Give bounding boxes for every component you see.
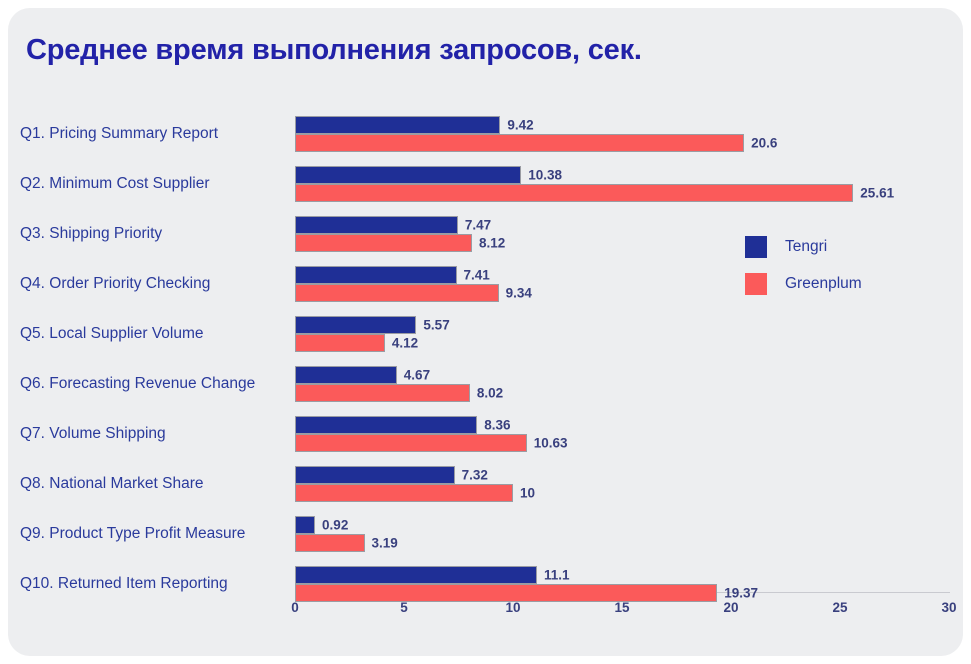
x-axis-tick-label: 10	[505, 600, 520, 615]
legend-swatch-tengri	[745, 236, 767, 258]
bar-value-label: 10.38	[528, 168, 562, 183]
bar-value-label: 7.41	[464, 268, 490, 283]
category-label: Q9. Product Type Profit Measure	[20, 525, 295, 543]
bar-value-label: 10.63	[534, 436, 568, 451]
bar-greenplum[interactable]	[295, 334, 385, 352]
category-label: Q10. Returned Item Reporting	[20, 575, 295, 593]
bar-value-label: 25.61	[860, 186, 894, 201]
x-axis-tick-label: 5	[400, 600, 408, 615]
bar-value-label: 3.19	[372, 536, 398, 551]
bar-tengri[interactable]	[295, 466, 455, 484]
x-axis-tick-label: 30	[941, 600, 956, 615]
legend-item-tengri[interactable]: Tengri	[745, 236, 862, 258]
bar-value-label: 5.57	[423, 318, 449, 333]
bar-value-label: 7.47	[465, 218, 491, 233]
x-axis-tick-label: 25	[832, 600, 847, 615]
bar-tengri[interactable]	[295, 566, 537, 584]
legend-swatch-greenplum	[745, 273, 767, 295]
category-label: Q1. Pricing Summary Report	[20, 125, 295, 143]
x-axis-tick-label: 20	[723, 600, 738, 615]
bar-value-label: 9.42	[507, 118, 533, 133]
x-axis-tick-label: 0	[291, 600, 299, 615]
bar-tengri[interactable]	[295, 266, 457, 284]
category-label: Q3. Shipping Priority	[20, 225, 295, 243]
category-label: Q7. Volume Shipping	[20, 425, 295, 443]
bar-value-label: 0.92	[322, 518, 348, 533]
bar-value-label: 20.6	[751, 136, 777, 151]
legend-item-greenplum[interactable]: Greenplum	[745, 273, 862, 295]
bar-value-label: 4.67	[404, 368, 430, 383]
bar-value-label: 8.36	[484, 418, 510, 433]
bar-value-label: 11.1	[544, 568, 570, 583]
category-label: Q2. Minimum Cost Supplier	[20, 175, 295, 193]
bar-greenplum[interactable]	[295, 384, 470, 402]
bar-greenplum[interactable]	[295, 434, 527, 452]
bar-greenplum[interactable]	[295, 134, 744, 152]
legend-label-greenplum: Greenplum	[785, 275, 862, 293]
category-label: Q5. Local Supplier Volume	[20, 325, 295, 343]
bar-tengri[interactable]	[295, 116, 500, 134]
bar-value-label: 8.12	[479, 236, 505, 251]
bar-value-label: 10	[520, 486, 535, 501]
bar-greenplum[interactable]	[295, 534, 365, 552]
bar-tengri[interactable]	[295, 416, 477, 434]
category-label: Q8. National Market Share	[20, 475, 295, 493]
category-label: Q6. Forecasting Revenue Change	[20, 375, 295, 393]
bar-tengri[interactable]	[295, 516, 315, 534]
bar-greenplum[interactable]	[295, 184, 853, 202]
bar-greenplum[interactable]	[295, 284, 499, 302]
bar-value-label: 9.34	[506, 286, 532, 301]
bar-tengri[interactable]	[295, 316, 416, 334]
bar-tengri[interactable]	[295, 216, 458, 234]
x-axis-tick-label: 15	[614, 600, 629, 615]
bar-value-label: 19.37	[724, 586, 758, 601]
bar-greenplum[interactable]	[295, 484, 513, 502]
chart-card: Среднее время выполнения запросов, сек. …	[8, 8, 963, 656]
bar-tengri[interactable]	[295, 366, 397, 384]
bar-value-label: 7.32	[462, 468, 488, 483]
bar-tengri[interactable]	[295, 166, 521, 184]
bar-value-label: 4.12	[392, 336, 418, 351]
bar-value-label: 8.02	[477, 386, 503, 401]
category-label: Q4. Order Priority Checking	[20, 275, 295, 293]
chart-legend: Tengri Greenplum	[745, 236, 862, 310]
bar-chart-plot: Q1. Pricing Summary Report9.4220.6Q2. Mi…	[8, 8, 963, 656]
legend-label-tengri: Tengri	[785, 238, 827, 256]
bar-greenplum[interactable]	[295, 234, 472, 252]
